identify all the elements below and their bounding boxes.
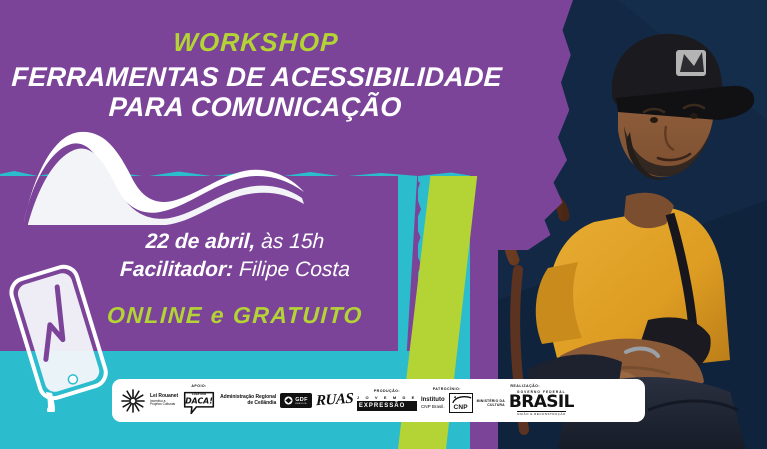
logo-ruas: RUAS bbox=[316, 391, 353, 411]
event-date-bold: 22 de abril, bbox=[145, 230, 256, 253]
svg-text:DACA!: DACA! bbox=[185, 397, 213, 406]
cnp-sub: CNP Brasil. bbox=[421, 404, 445, 409]
poster: WORKSHOP FERRAMENTAS DE ACESSIBILIDADE P… bbox=[0, 0, 767, 449]
apoio-caption: APOIO: bbox=[191, 385, 206, 389]
sponsor-logo-bar: Lei Rouanet Incentivo a Projetos Cultura… bbox=[112, 379, 645, 422]
daca-speech-bubble-icon: COLETIVO DACA! bbox=[182, 390, 216, 416]
free-online-badge: ONLINE e GRATUITO bbox=[0, 302, 471, 329]
logo-governo-federal-brasil: GOVERNO FEDERAL BRASIL UNIÃO E RECONSTRU… bbox=[509, 391, 574, 416]
headline-block: WORKSHOP FERRAMENTAS DE ACESSIBILIDADE P… bbox=[0, 28, 512, 122]
ministry-line-2: CULTURA bbox=[477, 403, 505, 407]
logo-administracao-regional: Administração Regional de Ceilândia bbox=[220, 395, 276, 406]
jovem-line-2: EXPRESSÃO bbox=[357, 401, 417, 411]
logo-lei-rouanet: Lei Rouanet Incentivo a Projetos Cultura… bbox=[120, 388, 178, 414]
logo-apoio-daca: APOIO: COLETIVO DACA! bbox=[182, 385, 216, 417]
rouanet-starburst-icon bbox=[120, 388, 146, 414]
event-facilitator: Facilitador: Filipe Costa bbox=[0, 256, 471, 284]
logo-producao-jovem-de-expressao: PRODUÇÃO: J O V E M D E EXPRESSÃO bbox=[357, 390, 417, 411]
patrocinio-caption: PATROCÍNIO: bbox=[433, 388, 461, 392]
jovem-line-1: J O V E M D E bbox=[357, 396, 417, 400]
realizacao-caption: REALIZAÇÃO: bbox=[510, 385, 540, 389]
white-brush-ribbon bbox=[20, 130, 320, 225]
kicker-workshop: WORKSHOP bbox=[0, 28, 513, 57]
gdf-sub: BRASÍLIA bbox=[295, 403, 308, 405]
regional-line-2: de Ceilândia bbox=[220, 401, 276, 406]
cnp-box-text: CNP bbox=[453, 405, 467, 412]
facilitator-label: Facilitador: bbox=[119, 258, 233, 281]
rouanet-sub-2: Projetos Culturais bbox=[150, 403, 178, 407]
cnp-arc-icon bbox=[452, 395, 472, 404]
producao-caption: PRODUÇÃO: bbox=[374, 390, 400, 394]
logo-patrocinio-cnp: PATROCÍNIO: Instituto CNP Brasil. CNP bbox=[421, 388, 473, 414]
title-line-1: FERRAMENTAS DE ACESSIBILIDADE bbox=[11, 62, 503, 92]
title-line-2: PARA COMUNICAÇÃO bbox=[108, 92, 402, 122]
gov-brasil-wordmark: BRASIL bbox=[509, 394, 574, 410]
gdf-emblem-icon bbox=[284, 396, 293, 405]
svg-text:COLETIVO: COLETIVO bbox=[192, 392, 207, 396]
cnp-box-logo: CNP bbox=[449, 393, 473, 413]
logo-realizacao: REALIZAÇÃO: MINISTÉRIO DA CULTURA GOVERN… bbox=[477, 385, 574, 416]
page-title: FERRAMENTAS DE ACESSIBILIDADE PARA COMUN… bbox=[0, 62, 514, 122]
facilitator-name: Filipe Costa bbox=[233, 258, 351, 281]
event-date: 22 de abril, às 15h bbox=[0, 228, 471, 256]
gov-bottom-label: UNIÃO E RECONSTRUÇÃO bbox=[517, 411, 566, 416]
event-details-block: 22 de abril, às 15h Facilitador: Filipe … bbox=[0, 228, 470, 329]
event-time: às 15h bbox=[255, 230, 325, 253]
cnp-name: Instituto bbox=[421, 397, 445, 404]
logo-gdf: GDF BRASÍLIA bbox=[280, 393, 312, 408]
